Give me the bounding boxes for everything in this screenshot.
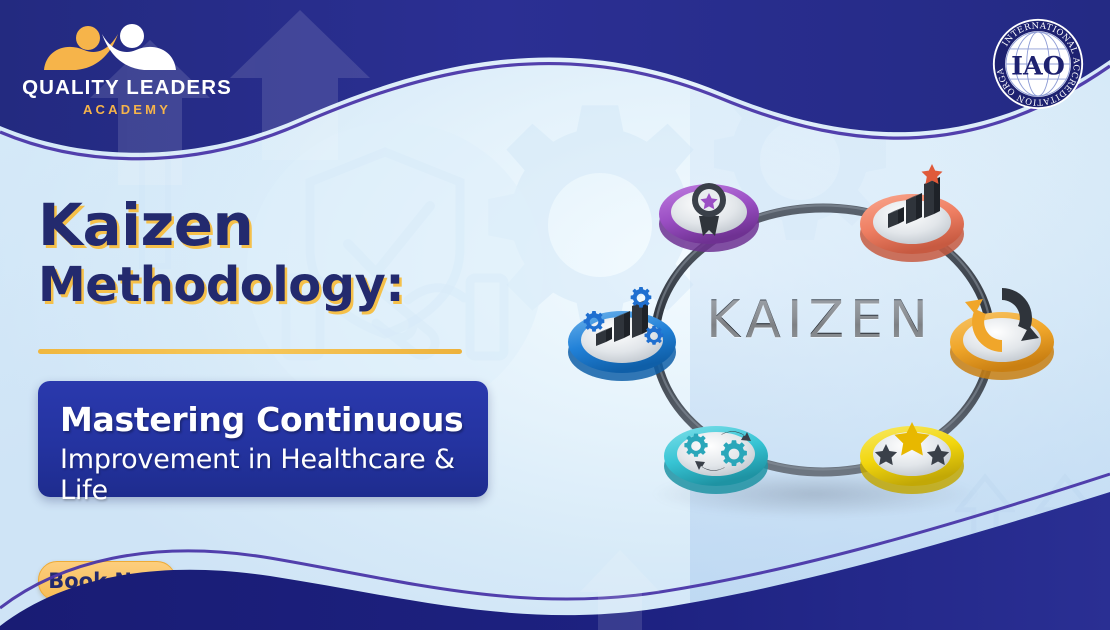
brand-logo[interactable]: QUALITY LEADERS ACADEMY (22, 22, 232, 112)
node-growth[interactable] (850, 152, 962, 264)
node-cycle[interactable] (938, 270, 1050, 382)
accreditation-badge: INTERNATIONAL ACCREDITATION ORGANIZATION… (991, 17, 1085, 111)
two-people-arc-mark (40, 22, 180, 74)
title-divider (38, 349, 462, 354)
accreditation-acronym: IAO (1011, 50, 1065, 80)
logo-subtitle: ACADEMY (22, 102, 232, 117)
node-measurement[interactable] (556, 270, 668, 382)
page-title: Kaizen Methodology: (38, 192, 558, 314)
banner-canvas: QUALITY LEADERS ACADEMY INTERNATIONAL AC… (0, 0, 1110, 630)
kaizen-center-label: KAIZEN (690, 290, 950, 350)
headline-line-1: Kaizen (38, 192, 558, 258)
bottom-navy-wave (0, 430, 1110, 630)
node-award[interactable] (653, 152, 765, 264)
logo-title: QUALITY LEADERS (22, 76, 232, 100)
headline-line-2: Methodology: (38, 256, 558, 314)
